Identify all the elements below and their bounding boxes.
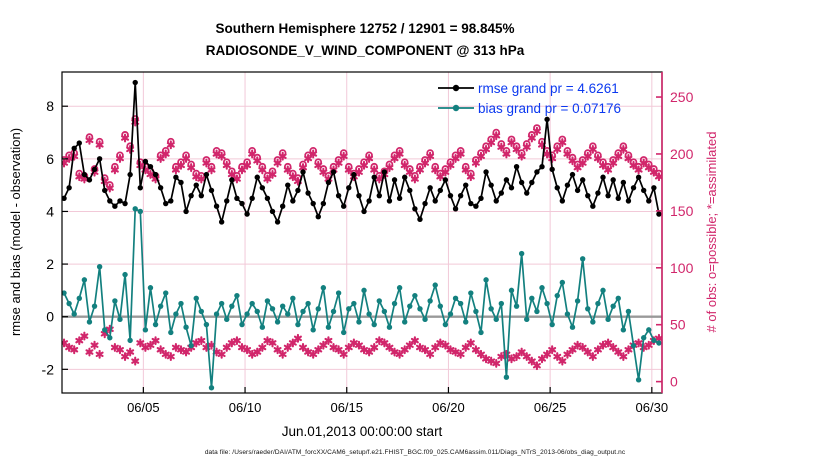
tick-label-x: 06/15 (330, 400, 363, 415)
series-point-rmse (148, 164, 153, 169)
series-point-bias (102, 327, 107, 332)
series-point-bias (626, 309, 631, 314)
series-point-bias (300, 309, 305, 314)
series-point-bias (153, 322, 158, 327)
series-point-bias (66, 301, 71, 306)
series-point-rmse (387, 198, 392, 203)
series-point-rmse (463, 182, 468, 187)
series-point-bias (610, 303, 615, 308)
series-point-rmse (570, 172, 575, 177)
chart-title-line1: Southern Hemisphere 12752 / 12901 = 98.8… (215, 21, 514, 36)
series-point-rmse (580, 177, 585, 182)
series-point-bias (565, 311, 570, 316)
series-point-rmse (590, 203, 595, 208)
series-point-bias (636, 377, 641, 382)
series-point-bias (92, 303, 97, 308)
series-point-rmse (133, 80, 138, 85)
series-point-rmse (204, 172, 209, 177)
series-point-rmse (244, 211, 249, 216)
series-point-rmse (168, 198, 173, 203)
series-point-rmse (249, 196, 254, 201)
series-point-rmse (341, 203, 346, 208)
series-point-bias (117, 317, 122, 322)
series-point-rmse (361, 209, 366, 214)
left-axis-label: rmse and bias (model - observation) (8, 128, 23, 336)
series-point-bias (285, 311, 290, 316)
series-point-rmse (112, 203, 117, 208)
series-point-bias (173, 311, 178, 316)
tick-label-x: 06/05 (127, 400, 160, 415)
series-point-bias (194, 296, 199, 301)
series-point-rmse (199, 193, 204, 198)
series-point-rmse (453, 206, 458, 211)
series-point-rmse (326, 180, 331, 185)
series-point-rmse (351, 172, 356, 177)
series-point-bias (494, 317, 499, 322)
series-point-bias (544, 301, 549, 306)
series-point-rmse (509, 185, 514, 190)
series-point-bias (483, 277, 488, 282)
series-point-bias (122, 272, 127, 277)
tick-label-right: 250 (670, 89, 694, 105)
data-file-footer: data file: /Users/raeder/DAI/ATM_forcXX/… (0, 449, 830, 456)
tick-label-left: 8 (46, 98, 54, 114)
series-point-bias (199, 309, 204, 314)
series-point-rmse (173, 175, 178, 180)
series-point-rmse (514, 164, 519, 169)
series-point-bias (463, 319, 468, 324)
series-point-bias (534, 309, 539, 314)
series-point-rmse (412, 206, 417, 211)
series-point-rmse (366, 198, 371, 203)
series-point-bias (382, 309, 387, 314)
series-point-rmse (321, 201, 326, 206)
series-point-rmse (443, 177, 448, 182)
series-point-rmse (72, 146, 77, 151)
series-point-rmse (280, 203, 285, 208)
series-point-rmse (422, 201, 427, 206)
series-point-rmse (153, 172, 158, 177)
series-point-rmse (158, 185, 163, 190)
series-point-rmse (610, 177, 615, 182)
series-point-rmse (529, 180, 534, 185)
series-point-rmse (524, 190, 529, 195)
series-point-rmse (626, 198, 631, 203)
series-point-bias (519, 251, 524, 256)
series-point-rmse (544, 117, 549, 122)
series-point-bias (280, 303, 285, 308)
series-point-bias (651, 338, 656, 343)
series-point-rmse (539, 164, 544, 169)
series-point-bias (646, 327, 651, 332)
series-point-rmse (305, 190, 310, 195)
series-point-rmse (77, 140, 82, 145)
series-point-bias (77, 296, 82, 301)
series-point-rmse (621, 180, 626, 185)
series-point-rmse (295, 188, 300, 193)
tick-label-left: -2 (42, 361, 55, 377)
series-point-rmse (473, 203, 478, 208)
series-point-rmse (97, 156, 102, 161)
series-point-rmse (224, 198, 229, 203)
series-point-bias (427, 298, 432, 303)
series-point-rmse (575, 188, 580, 193)
series-point-bias (255, 309, 260, 314)
series-point-bias (366, 311, 371, 316)
series-point-rmse (234, 196, 239, 201)
series-point-rmse (290, 198, 295, 203)
series-point-bias (590, 319, 595, 324)
series-point-bias (600, 288, 605, 293)
tick-label-x: 06/30 (636, 400, 669, 415)
series-point-rmse (483, 169, 488, 174)
series-point-bias (605, 317, 610, 322)
series-point-bias (656, 340, 661, 345)
series-point-bias (555, 293, 560, 298)
series-point-rmse (392, 177, 397, 182)
series-point-rmse (194, 182, 199, 187)
series-point-bias (575, 298, 580, 303)
tick-label-right: 50 (670, 317, 686, 333)
tick-label-left: 6 (46, 151, 54, 167)
series-point-rmse (555, 185, 560, 190)
series-point-rmse (331, 169, 336, 174)
series-point-bias (377, 298, 382, 303)
tick-label-x: 06/10 (229, 400, 262, 415)
series-point-bias (422, 317, 427, 322)
series-point-bias (407, 303, 412, 308)
series-point-rmse (219, 219, 224, 224)
series-point-bias (539, 285, 544, 290)
tick-label-right: 100 (670, 260, 694, 276)
series-point-bias (616, 296, 621, 301)
legend-label: rmse grand pr = 4.6261 (478, 81, 619, 96)
series-point-bias (158, 303, 163, 308)
series-point-bias (514, 303, 519, 308)
series-point-rmse (641, 188, 646, 193)
series-point-bias (549, 322, 554, 327)
series-point-rmse (397, 196, 402, 201)
series-point-rmse (565, 182, 570, 187)
series-point-rmse (636, 175, 641, 180)
series-point-rmse (346, 185, 351, 190)
series-point-rmse (300, 169, 305, 174)
series-point-bias (402, 319, 407, 324)
series-point-rmse (534, 169, 539, 174)
series-point-rmse (209, 188, 214, 193)
series-point-bias (316, 306, 321, 311)
series-point-rmse (504, 177, 509, 182)
series-point-rmse (66, 185, 71, 190)
series-point-bias (585, 306, 590, 311)
series-point-bias (204, 322, 209, 327)
tick-label-x: 06/20 (432, 400, 465, 415)
series-point-rmse (239, 201, 244, 206)
series-point-rmse (585, 193, 590, 198)
series-point-rmse (356, 193, 361, 198)
series-point-rmse (265, 196, 270, 201)
series-point-rmse (616, 196, 621, 201)
series-point-bias (107, 335, 112, 340)
series-point-rmse (255, 175, 260, 180)
series-point-bias (127, 338, 132, 343)
series-point-bias (524, 317, 529, 322)
series-point-bias (168, 330, 173, 335)
series-point-bias (499, 301, 504, 306)
series-point-bias (468, 290, 473, 295)
series-point-bias (295, 322, 300, 327)
tick-label-right: 200 (670, 146, 694, 162)
series-point-bias (229, 303, 234, 308)
series-point-rmse (122, 201, 127, 206)
series-point-bias (321, 285, 326, 290)
legend-label: bias grand pr = 0.07176 (478, 101, 621, 116)
series-point-bias (260, 325, 265, 330)
series-point-bias (621, 327, 626, 332)
series-point-rmse (468, 201, 473, 206)
series-point-bias (331, 309, 336, 314)
series-point-rmse (433, 198, 438, 203)
series-point-rmse (519, 180, 524, 185)
x-axis-label: Jun.01,2013 00:00:00 start (282, 424, 443, 439)
series-point-bias (148, 285, 153, 290)
series-point-rmse (458, 193, 463, 198)
series-point-bias (219, 301, 224, 306)
series-point-bias (72, 311, 77, 316)
series-point-bias (336, 290, 341, 295)
series-point-rmse (377, 193, 382, 198)
timeseries-chart: Southern Hemisphere 12752 / 12901 = 98.8… (0, 0, 830, 470)
series-point-bias (183, 325, 188, 330)
series-point-rmse (595, 190, 600, 195)
series-point-bias (310, 327, 315, 332)
series-point-rmse (438, 188, 443, 193)
series-point-bias (97, 264, 102, 269)
series-point-rmse (178, 180, 183, 185)
series-point-bias (270, 306, 275, 311)
series-point-bias (478, 330, 483, 335)
series-point-bias (290, 296, 295, 301)
series-point-rmse (87, 177, 92, 182)
series-point-bias (570, 325, 575, 330)
tick-label-x: 06/25 (534, 400, 567, 415)
series-point-bias (458, 301, 463, 306)
series-point-bias (473, 309, 478, 314)
series-point-bias (82, 277, 87, 282)
series-point-bias (209, 385, 214, 390)
series-point-bias (397, 285, 402, 290)
tick-label-right: 150 (670, 203, 694, 219)
series-point-bias (138, 209, 143, 214)
right-axis-label: # of obs: o=possible; *=assimilated (704, 132, 719, 333)
series-point-rmse (478, 196, 483, 201)
series-point-rmse (163, 201, 168, 206)
series-point-rmse (188, 193, 193, 198)
legend-marker (453, 85, 459, 91)
series-point-bias (433, 282, 438, 287)
tick-label-left: 0 (46, 309, 54, 325)
series-point-bias (341, 330, 346, 335)
series-point-rmse (214, 203, 219, 208)
series-point-rmse (275, 219, 280, 224)
series-point-rmse (316, 214, 321, 219)
series-point-rmse (605, 193, 610, 198)
series-point-rmse (310, 201, 315, 206)
series-point-bias (560, 280, 565, 285)
series-point-bias (87, 319, 92, 324)
series-point-rmse (560, 198, 565, 203)
series-point-bias (265, 298, 270, 303)
series-point-bias (443, 322, 448, 327)
series-point-bias (504, 375, 509, 380)
series-point-rmse (107, 198, 112, 203)
series-point-rmse (448, 193, 453, 198)
series-point-bias (453, 296, 458, 301)
series-point-bias (580, 256, 585, 261)
series-point-rmse (494, 198, 499, 203)
series-point-bias (239, 322, 244, 327)
series-point-bias (641, 335, 646, 340)
series-point-bias (214, 311, 219, 316)
series-point-rmse (656, 211, 661, 216)
series-point-rmse (646, 198, 651, 203)
series-point-bias (488, 306, 493, 311)
tick-label-left: 4 (46, 203, 54, 219)
legend-marker (453, 105, 459, 111)
series-point-rmse (270, 209, 275, 214)
series-point-rmse (229, 177, 234, 182)
series-point-bias (275, 319, 280, 324)
tick-label-right: 0 (670, 374, 678, 390)
series-point-rmse (382, 169, 387, 174)
series-point-rmse (417, 217, 422, 222)
series-point-rmse (138, 185, 143, 190)
series-point-bias (392, 301, 397, 306)
series-point-rmse (499, 190, 504, 195)
series-point-rmse (117, 198, 122, 203)
series-point-bias (244, 311, 249, 316)
series-point-rmse (549, 167, 554, 172)
series-point-rmse (488, 182, 493, 187)
series-point-bias (412, 293, 417, 298)
series-point-bias (249, 301, 254, 306)
series-point-bias (387, 325, 392, 330)
series-point-bias (417, 306, 422, 311)
series-point-bias (509, 288, 514, 293)
series-point-bias (372, 322, 377, 327)
tick-label-left: 2 (46, 256, 54, 272)
series-point-rmse (143, 159, 148, 164)
series-point-bias (133, 206, 138, 211)
series-point-rmse (600, 175, 605, 180)
series-point-rmse (651, 185, 656, 190)
series-point-bias (326, 325, 331, 330)
series-point-bias (351, 301, 356, 306)
series-point-rmse (372, 175, 377, 180)
series-point-rmse (92, 167, 97, 172)
series-point-rmse (127, 172, 132, 177)
series-point-bias (224, 317, 229, 322)
series-point-bias (163, 290, 168, 295)
series-point-rmse (183, 209, 188, 214)
series-point-bias (448, 311, 453, 316)
series-point-bias (529, 296, 534, 301)
series-point-bias (178, 301, 183, 306)
series-point-bias (188, 343, 193, 348)
series-point-bias (143, 327, 148, 332)
series-point-rmse (336, 193, 341, 198)
series-point-rmse (260, 185, 265, 190)
figure-container: Southern Hemisphere 12752 / 12901 = 98.8… (0, 0, 830, 470)
chart-title-line2: RADIOSONDE_V_WIND_COMPONENT @ 313 hPa (206, 43, 525, 58)
series-point-bias (305, 301, 310, 306)
series-point-bias (631, 343, 636, 348)
series-point-rmse (427, 185, 432, 190)
series-point-bias (438, 303, 443, 308)
series-point-rmse (407, 188, 412, 193)
series-point-rmse (402, 175, 407, 180)
series-point-bias (595, 301, 600, 306)
series-point-bias (346, 306, 351, 311)
series-point-bias (112, 298, 117, 303)
series-point-rmse (285, 182, 290, 187)
series-point-bias (356, 319, 361, 324)
series-point-rmse (82, 172, 87, 177)
series-point-rmse (102, 188, 107, 193)
series-point-bias (234, 293, 239, 298)
series-point-bias (361, 288, 366, 293)
series-point-rmse (631, 185, 636, 190)
